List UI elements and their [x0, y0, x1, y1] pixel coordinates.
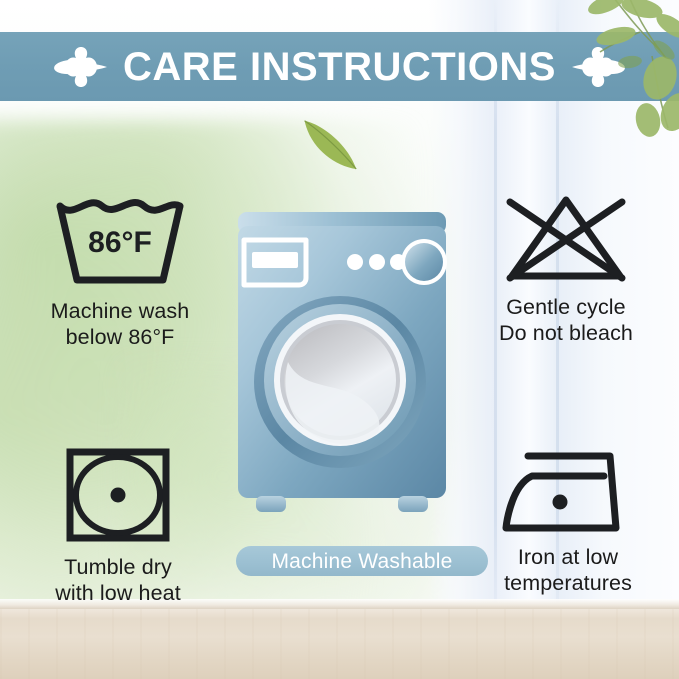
wash-temperature-value: 86°F	[88, 226, 152, 259]
plant-branch-icon	[556, 0, 679, 152]
care-symbol-caption-tumble-dry: Tumble dry with low heat	[55, 554, 181, 607]
care-instructions-graphic: CARE INSTRUCTIONS 86°F Machine wash belo…	[0, 0, 679, 679]
care-symbol-caption-gentle-cycle: Gentle cycle Do not bleach	[499, 294, 633, 347]
iron-icon	[498, 450, 638, 536]
care-symbol-caption-machine-wash: Machine wash below 86°F	[51, 298, 190, 351]
care-symbol-caption-iron: Iron at low temperatures	[504, 544, 632, 597]
machine-washable-badge: Machine Washable	[236, 546, 488, 576]
care-symbol-tumble-dry: Tumble dry with low heat	[12, 444, 224, 607]
care-symbol-machine-wash: 86°F Machine wash below 86°F	[14, 196, 226, 351]
care-symbol-iron: Iron at low temperatures	[462, 450, 674, 597]
page-title: CARE INSTRUCTIONS	[123, 47, 556, 87]
drawer-handle	[252, 252, 298, 268]
tumble-dry-square-icon	[62, 444, 174, 546]
care-symbol-gentle-cycle-no-bleach: Gentle cycle Do not bleach	[460, 192, 672, 347]
machine-foot-left	[256, 496, 286, 512]
fleur-de-lis-icon-left	[53, 45, 109, 89]
triangle-crossed-out-icon	[496, 192, 636, 286]
machine-foot-right	[398, 496, 428, 512]
wash-tub-icon: 86°F	[50, 196, 190, 290]
wood-grain-texture	[0, 609, 679, 679]
washing-machine-illustration	[232, 212, 452, 524]
program-dial	[405, 243, 443, 281]
indicator-light-1	[347, 254, 363, 270]
machine-washable-badge-label: Machine Washable	[271, 551, 452, 572]
indicator-light-2	[369, 254, 385, 270]
